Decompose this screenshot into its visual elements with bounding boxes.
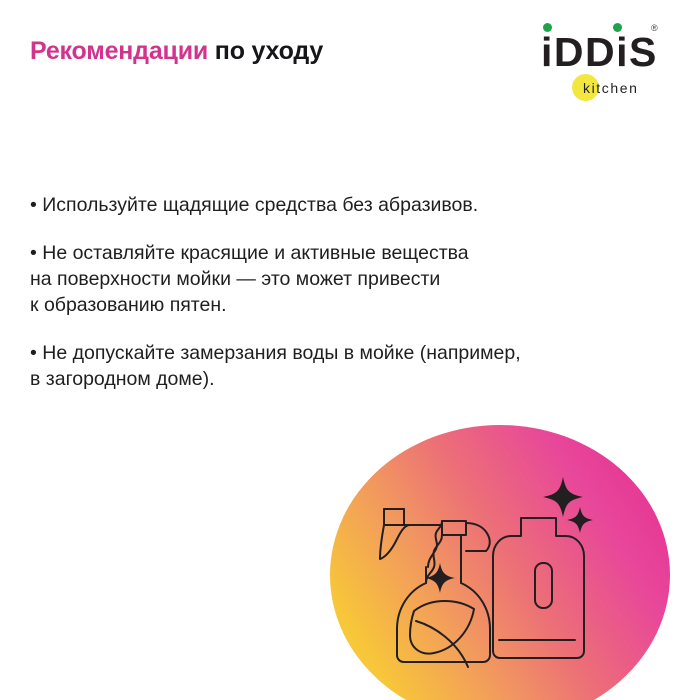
sparkle-star-small <box>567 507 593 533</box>
registered-trademark-icon: ® <box>651 24 658 33</box>
sparkle-star-left <box>425 563 455 593</box>
spray-bottle-nozzle <box>466 523 490 551</box>
care-tips-list: • Используйте щадящие средства без абраз… <box>30 192 660 392</box>
page-title-accent: Рекомендации <box>30 37 208 65</box>
iddis-logo: iDDiS ® kitchen <box>541 22 681 104</box>
page-title: Рекомендации по уходу <box>30 38 323 66</box>
logo-subbrand: kitchen <box>563 74 681 104</box>
detergent-bottle-body <box>493 518 584 658</box>
spray-bottle-trigger <box>380 509 442 559</box>
care-recommendations-card: Рекомендации по уходу iDDiS ® kitchen • … <box>0 0 700 700</box>
page-title-plain: по уходу <box>208 37 323 65</box>
leaf-outline <box>410 601 474 654</box>
logo-wordmark: iDDiS <box>541 32 658 73</box>
cleaning-products-lineart <box>330 415 700 700</box>
spray-bottle-nozzle-tip <box>384 509 404 525</box>
care-tip-item: • Не оставляйте красящие и активные веще… <box>30 240 660 318</box>
spray-bottle-collar <box>442 521 466 535</box>
detergent-bottle-window <box>535 563 552 608</box>
care-tip-item: • Не допускайте замерзания воды в мойке … <box>30 340 660 392</box>
care-tip-item: • Используйте щадящие средства без абраз… <box>30 192 660 218</box>
cleaning-products-illustration <box>330 415 700 700</box>
logo-subbrand-label: kitchen <box>583 80 639 97</box>
sparkle-star-large <box>543 477 583 517</box>
leaf-vein <box>416 621 468 667</box>
